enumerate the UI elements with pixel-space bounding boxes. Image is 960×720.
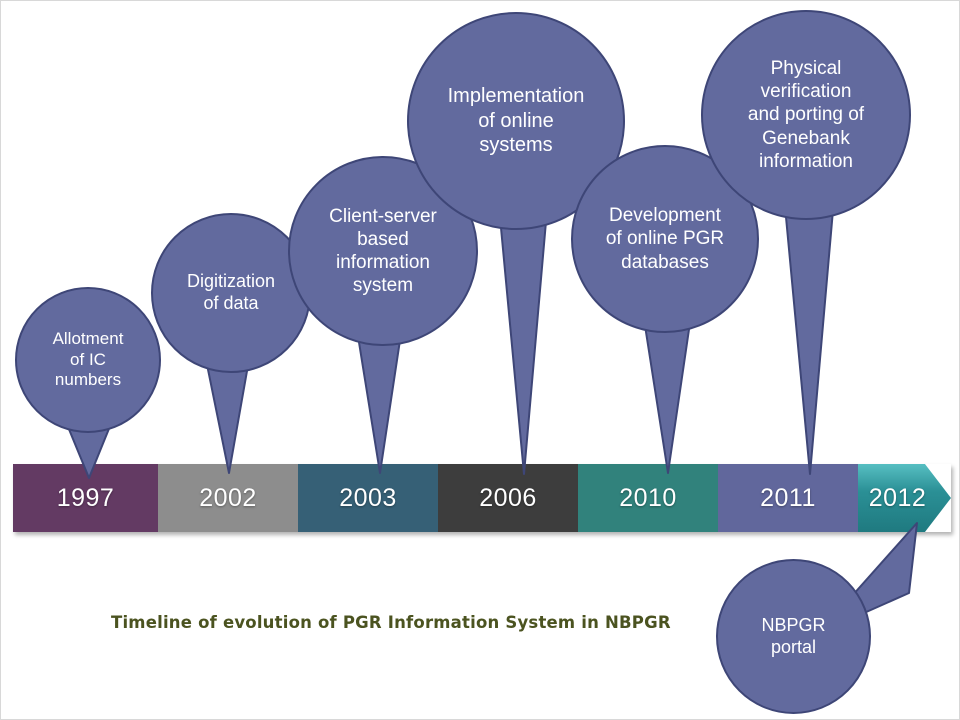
bubble-label: Implementation of online systems: [438, 84, 595, 157]
bubble-label: Allotment of IC numbers: [43, 329, 134, 391]
bubble-physical-verification-porting[interactable]: Physical verification and porting of Gen…: [701, 10, 911, 220]
bubble-label: Digitization of data: [177, 271, 285, 315]
timeline-year-label: 1997: [57, 484, 115, 513]
timeline-year-label: 2012: [869, 484, 927, 513]
bubble-allotment-of-ic-numbers[interactable]: Allotment of IC numbers: [15, 287, 161, 433]
timeline-year-label: 2011: [760, 484, 816, 513]
diagram-caption: Timeline of evolution of PGR Information…: [111, 613, 671, 632]
bubble-label: NBPGR portal: [751, 615, 835, 659]
bubble-label: Development of online PGR databases: [596, 204, 734, 274]
bubble-label: Physical verification and porting of Gen…: [738, 57, 874, 173]
bubble-nbpgr-portal[interactable]: NBPGR portal: [716, 559, 871, 714]
timeline-diagram: Allotment of IC numbers Digitization of …: [0, 0, 960, 720]
timeline-year-label: 2006: [479, 484, 537, 513]
timeline-year-label: 2002: [199, 484, 257, 513]
bubble-label: Client-server based information system: [319, 205, 447, 298]
bubble-tail-2011: [779, 181, 839, 477]
bubble-digitization-of-data[interactable]: Digitization of data: [151, 213, 311, 373]
timeline-year-label: 2003: [339, 484, 397, 513]
timeline-year-label: 2010: [619, 484, 677, 513]
